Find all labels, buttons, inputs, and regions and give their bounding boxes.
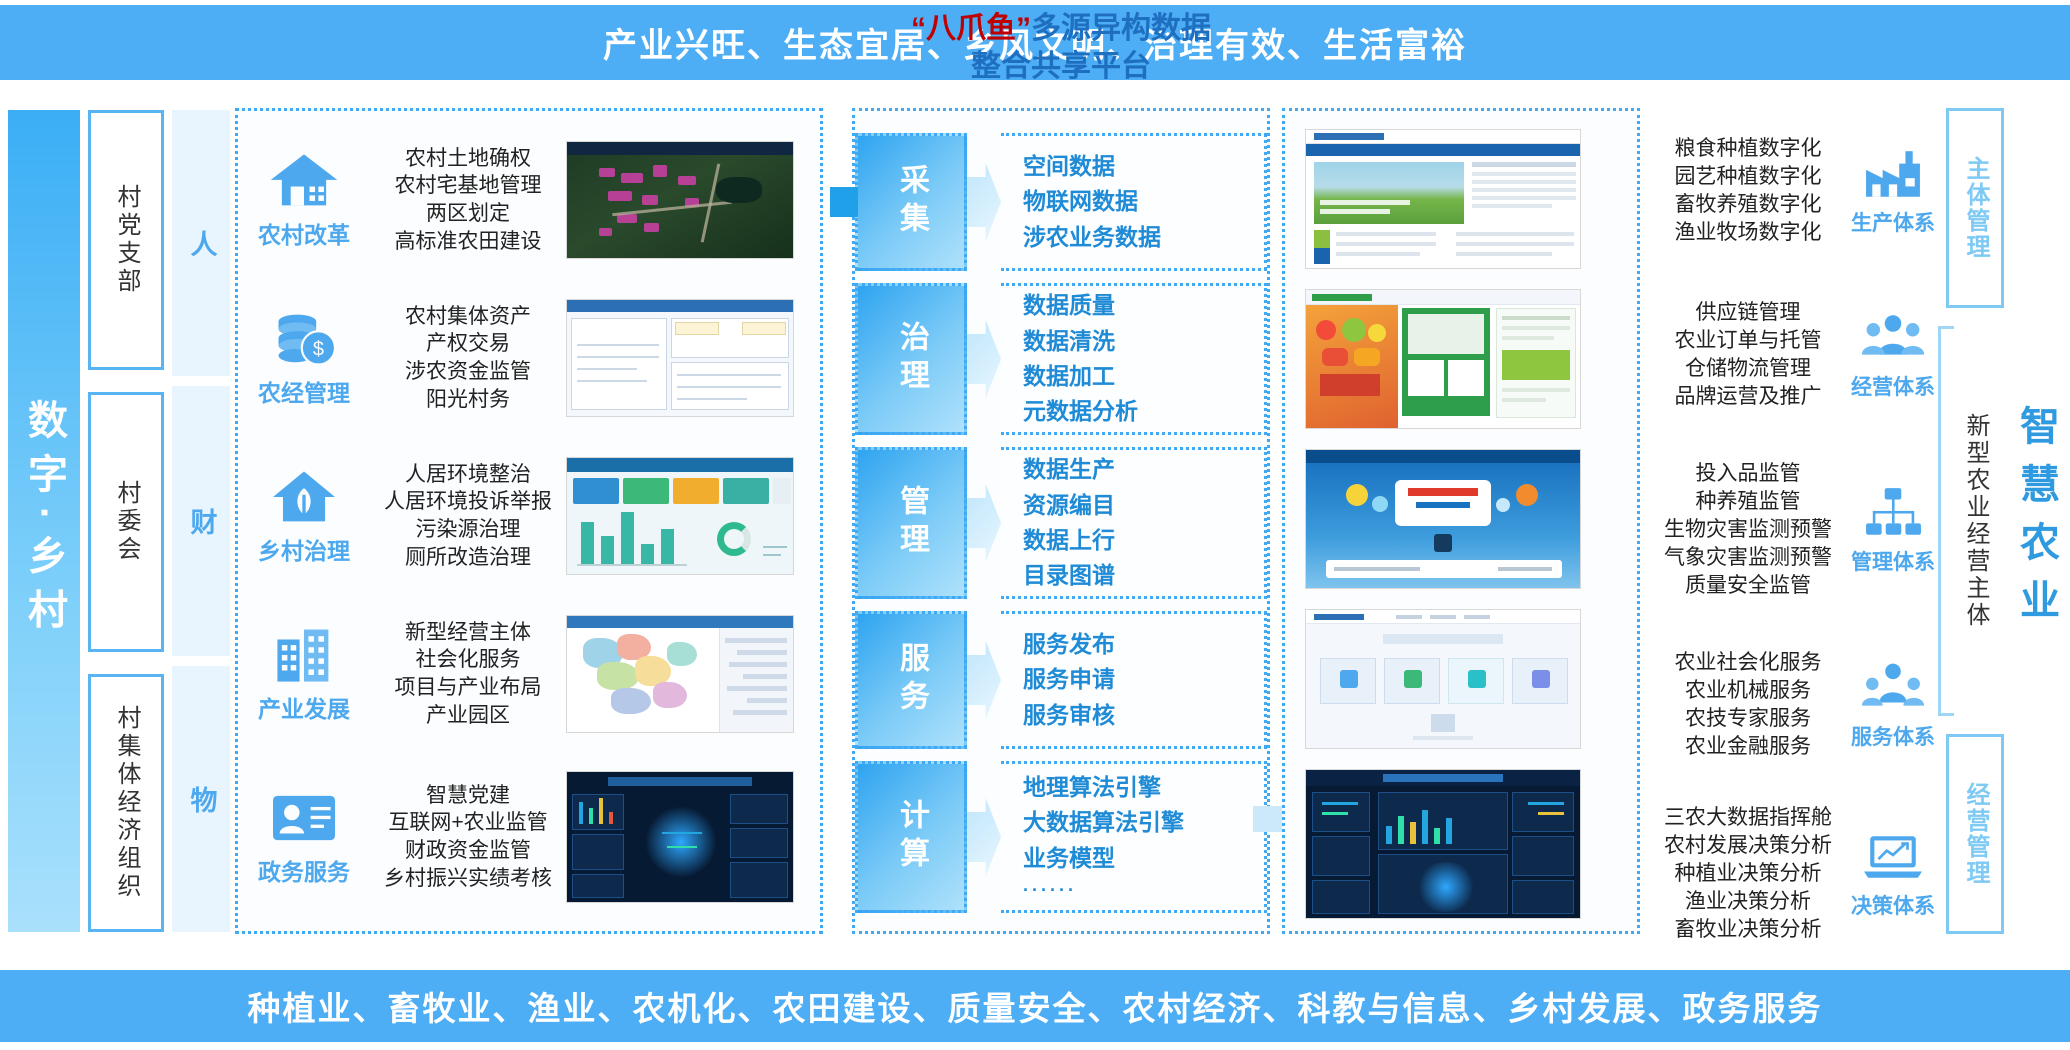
stage-label: 采集 — [896, 164, 926, 240]
stage-item: 元数据分析 — [1023, 395, 1138, 428]
module-item: 人居环境整治 — [370, 461, 566, 489]
system-item: 农村发展决策分析 — [1650, 832, 1846, 860]
system-row-decision[interactable]: 三农大数据指挥舱 农村发展决策分析 种植业决策分析 渔业决策分析 畜牧业决策分析… — [1650, 794, 1940, 954]
org-box-label: 村党支部 — [114, 184, 138, 296]
module-item: 农村土地确权 — [370, 145, 566, 173]
module-items: 农村集体资产 产权交易 涉农资金监管 阳光村务 — [370, 303, 566, 414]
stage-item: 业务模型 — [1023, 842, 1115, 875]
system-item: 种养殖监管 — [1650, 488, 1846, 516]
category-column: 人 财 物 — [172, 110, 230, 932]
module-icon-wrap: 乡村治理 — [238, 466, 370, 566]
system-icon-wrap: 经营体系 — [1846, 309, 1940, 401]
stage-label: 服务 — [896, 642, 926, 718]
org-box-village-party-branch[interactable]: 村党支部 — [88, 110, 164, 370]
organization-column: 村党支部 村委会 村集体经济组织 — [88, 110, 164, 932]
service-people-icon — [1858, 659, 1928, 717]
module-items: 新型经营主体 社会化服务 项目与产业布局 产业园区 — [370, 619, 566, 730]
stage-item: 服务审核 — [1023, 699, 1115, 732]
module-icon-wrap: 产业发展 — [238, 624, 370, 724]
stage-item: 大数据算法引擎 — [1023, 806, 1184, 839]
system-item: 畜牧养殖数字化 — [1650, 191, 1846, 219]
module-label: 政务服务 — [258, 853, 350, 887]
category-label: 财 — [188, 508, 215, 535]
stage-row-govern[interactable]: 治理 数据质量 数据清洗 数据加工 元数据分析 — [855, 283, 1267, 435]
module-row-rural-governance[interactable]: 乡村治理 人居环境整治 人居环境投诉举报 污染源治理 厕所改造治理 — [238, 441, 820, 591]
stage-badge-manage[interactable]: 管理 — [855, 447, 967, 599]
system-item: 三农大数据指挥舱 — [1650, 804, 1846, 832]
module-item: 产业园区 — [370, 702, 566, 730]
system-item: 农业订单与托管 — [1650, 327, 1846, 355]
left-title-text: 数字·乡村 — [24, 399, 64, 642]
bottom-banner-text: 种植业、畜牧业、渔业、农机化、农田建设、质量安全、农村经济、科教与信息、乡村发展… — [248, 982, 1823, 1030]
system-icon-wrap: 决策体系 — [1846, 828, 1940, 920]
system-row-service[interactable]: 农业社会化服务 农业机械服务 农技专家服务 农业金融服务 服务体系 — [1650, 630, 1940, 780]
stage-row-manage[interactable]: 管理 数据生产 资源编目 数据上行 目录图谱 — [855, 447, 1267, 599]
stage-items-govern: 数据质量 数据清洗 数据加工 元数据分析 — [1001, 283, 1267, 435]
factory-icon — [1858, 145, 1928, 203]
produce-trading-platform-screenshot[interactable] — [1305, 289, 1581, 429]
stage-item: 数据质量 — [1023, 289, 1115, 322]
system-item: 仓储物流管理 — [1650, 355, 1846, 383]
bracket-tick-top — [1938, 326, 1954, 329]
module-item: 农村宅基地管理 — [370, 172, 566, 200]
stage-badge-govern[interactable]: 治理 — [855, 283, 967, 435]
governance-dashboard-screenshot[interactable] — [566, 457, 794, 575]
system-label: 经营体系 — [1851, 371, 1935, 401]
module-items: 农村土地确权 农村宅基地管理 两区划定 高标准农田建设 — [370, 145, 566, 256]
module-icon-wrap: $ 农经管理 — [238, 308, 370, 408]
module-item: 涉农资金监管 — [370, 358, 566, 386]
right-label-text: 经营管理 — [1963, 782, 1987, 886]
right-title-smart-agriculture: 智慧农业 — [2008, 108, 2064, 934]
system-label: 决策体系 — [1851, 890, 1935, 920]
stage-item: 空间数据 — [1023, 150, 1115, 183]
home-leaf-icon — [268, 466, 340, 528]
module-items: 智慧党建 互联网+农业监管 财政资金监管 乡村振兴实绩考核 — [370, 782, 566, 893]
arrow-right-icon — [967, 320, 1001, 398]
category-label: 人 — [188, 230, 215, 257]
big-data-command-screenshot[interactable] — [1305, 769, 1581, 919]
module-row-industry-development[interactable]: 产业发展 新型经营主体 社会化服务 项目与产业布局 产业园区 — [238, 599, 820, 749]
org-box-village-committee[interactable]: 村委会 — [88, 392, 164, 652]
system-item: 生物灾害监测预警 — [1650, 516, 1846, 544]
module-label: 产业发展 — [258, 690, 350, 724]
module-item: 厕所改造治理 — [370, 544, 566, 572]
stage-item: 目录图谱 — [1023, 559, 1115, 592]
industry-distribution-map-screenshot[interactable] — [566, 615, 794, 733]
laptop-chart-icon — [1858, 828, 1928, 886]
system-item: 品牌运营及推广 — [1650, 383, 1846, 411]
diagram-stage: 数字·乡村 村党支部 村委会 村集体经济组织 人 财 物 — [0, 90, 2070, 960]
stage-row-service[interactable]: 服务 服务发布 服务申请 服务审核 — [855, 611, 1267, 749]
system-item: 农业机械服务 — [1650, 677, 1846, 705]
module-item: 污染源治理 — [370, 516, 566, 544]
category-people[interactable]: 人 — [172, 110, 230, 376]
system-label: 管理体系 — [1851, 546, 1935, 576]
left-title-band: 数字·乡村 — [8, 110, 80, 932]
system-item: 投入品监管 — [1650, 460, 1846, 488]
module-item: 高标准农田建设 — [370, 228, 566, 256]
platform-title-blue-1: 多源异构数据 — [1031, 12, 1211, 45]
system-items: 三农大数据指挥舱 农村发展决策分析 种植业决策分析 渔业决策分析 畜牧业决策分析 — [1650, 804, 1846, 945]
org-box-label: 村委会 — [114, 480, 138, 564]
module-item: 社会化服务 — [370, 646, 566, 674]
stage-row-compute[interactable]: 计算 地理算法引擎 大数据算法引擎 业务模型 ······ — [855, 761, 1267, 913]
arrow-right-icon — [967, 641, 1001, 719]
module-label: 乡村治理 — [258, 532, 350, 566]
module-item: 两区划定 — [370, 200, 566, 228]
system-item: 畜牧业决策分析 — [1650, 916, 1846, 944]
module-row-rural-reform[interactable]: 农村改革 农村土地确权 农村宅基地管理 两区划定 高标准农田建设 — [238, 125, 820, 275]
person-card-icon — [268, 787, 340, 849]
module-item: 互联网+农业监管 — [370, 809, 566, 837]
system-row-production[interactable]: 粮食种植数字化 园艺种植数字化 畜牧养殖数字化 渔业牧场数字化 生产体系 — [1650, 116, 1940, 266]
org-box-collective-economic-org[interactable]: 村集体经济组织 — [88, 674, 164, 932]
system-item: 供应链管理 — [1650, 299, 1846, 327]
module-label: 农村改革 — [258, 216, 350, 250]
org-box-label: 村集体经济组织 — [114, 705, 138, 901]
right-label-new-agri-operators: 新型农业经营主体 — [1946, 322, 2004, 720]
right-label-operation-management[interactable]: 经营管理 — [1946, 734, 2004, 934]
right-label-text: 主体管理 — [1963, 156, 1987, 260]
system-icon-wrap: 生产体系 — [1846, 145, 1940, 237]
system-row-operation[interactable]: 供应链管理 农业订单与托管 仓储物流管理 品牌运营及推广 经营体系 — [1650, 280, 1940, 430]
stage-item: 数据上行 — [1023, 524, 1115, 557]
system-item: 农业社会化服务 — [1650, 649, 1846, 677]
system-items: 粮食种植数字化 园艺种植数字化 畜牧养殖数字化 渔业牧场数字化 — [1650, 135, 1846, 248]
house-icon — [268, 150, 340, 212]
satellite-parcel-map-screenshot[interactable] — [566, 141, 794, 259]
category-assets[interactable]: 物 — [172, 666, 230, 932]
system-item: 气象灾害监测预警 — [1650, 544, 1846, 572]
bracket-line — [1938, 326, 1941, 716]
stage-label: 管理 — [896, 485, 926, 561]
stage-item: 数据加工 — [1023, 360, 1115, 393]
module-item: 智慧党建 — [370, 782, 566, 810]
module-item: 项目与产业布局 — [370, 674, 566, 702]
food-safety-campaign-screenshot[interactable] — [1305, 449, 1581, 589]
system-item: 质量安全监管 — [1650, 572, 1846, 600]
stage-label: 治理 — [896, 321, 926, 397]
system-item: 渔业决策分析 — [1650, 888, 1846, 916]
stage-item: 涉农业务数据 — [1023, 221, 1161, 254]
platform-title-red: “八爪鱼” — [911, 12, 1031, 45]
stage-item: 资源编目 — [1023, 489, 1115, 522]
system-items: 投入品监管 种养殖监管 生物灾害监测预警 气象灾害监测预警 质量安全监管 — [1650, 460, 1846, 601]
system-icon-wrap: 管理体系 — [1846, 484, 1940, 576]
module-row-rural-economy[interactable]: $ 农经管理 农村集体资产 产权交易 涉农资金监管 阳光村务 — [238, 283, 820, 433]
right-label-text: 新型农业经营主体 — [1963, 413, 1987, 629]
module-item: 产权交易 — [370, 330, 566, 358]
module-row-government-service[interactable]: 政务服务 智慧党建 互联网+农业监管 财政资金监管 乡村振兴实绩考核 — [238, 757, 820, 917]
org-chart-icon — [1858, 484, 1928, 542]
agri-products-portal-screenshot[interactable] — [1305, 129, 1581, 269]
system-icon-wrap: 服务体系 — [1846, 659, 1940, 751]
stage-item-ellipsis: ······ — [1023, 877, 1077, 903]
stage-item: 物联网数据 — [1023, 185, 1138, 218]
module-items: 人居环境整治 人居环境投诉举报 污染源治理 厕所改造治理 — [370, 461, 566, 572]
stage-items-manage: 数据生产 资源编目 数据上行 目录图谱 — [1001, 447, 1267, 599]
module-item: 新型经营主体 — [370, 619, 566, 647]
system-item: 种植业决策分析 — [1650, 860, 1846, 888]
category-label: 物 — [188, 786, 215, 813]
platform-title: “八爪鱼”多源异构数据 整合共享平台 — [852, 10, 1270, 85]
stage-item: 地理算法引擎 — [1023, 771, 1161, 804]
module-item: 乡村振兴实绩考核 — [370, 865, 566, 893]
system-label: 生产体系 — [1851, 207, 1935, 237]
arrow-right-icon — [967, 484, 1001, 562]
stage-item: 数据生产 — [1023, 453, 1115, 486]
system-item: 粮食种植数字化 — [1650, 135, 1846, 163]
module-item: 阳光村务 — [370, 386, 566, 414]
stage-connector-nub — [830, 187, 858, 217]
stage-item: 服务发布 — [1023, 628, 1115, 661]
system-item: 渔业牧场数字化 — [1650, 219, 1846, 247]
stage-items-collect: 空间数据 物联网数据 涉农业务数据 — [1001, 133, 1267, 271]
stage-item: 数据清洗 — [1023, 325, 1115, 358]
system-item: 园艺种植数字化 — [1650, 163, 1846, 191]
system-item: 农业金融服务 — [1650, 733, 1846, 761]
arrow-right-icon — [967, 798, 1001, 876]
dark-command-center-screenshot[interactable] — [566, 771, 794, 903]
people-group-icon — [1858, 309, 1928, 367]
module-item: 农村集体资产 — [370, 303, 566, 331]
stage-items-compute: 地理算法引擎 大数据算法引擎 业务模型 ······ — [1001, 761, 1267, 913]
stage-item: 服务申请 — [1023, 663, 1115, 696]
stage-items-service: 服务发布 服务申请 服务审核 — [1001, 611, 1267, 749]
village-modules-panel: 农村改革 农村土地确权 农村宅基地管理 两区划定 高标准农田建设 — [235, 108, 823, 934]
module-item: 人居环境投诉举报 — [370, 488, 566, 516]
stage-row-collect[interactable]: 采集 空间数据 物联网数据 涉农业务数据 — [855, 133, 1267, 271]
module-item: 财政资金监管 — [370, 837, 566, 865]
platform-output-connector — [1253, 806, 1285, 832]
stage-badge-compute[interactable]: 计算 — [855, 761, 967, 913]
stage-badge-collect[interactable]: 采集 — [855, 133, 967, 271]
bottom-banner: 种植业、畜牧业、渔业、农机化、农田建设、质量安全、农村经济、科教与信息、乡村发展… — [0, 970, 2070, 1042]
buildings-icon — [268, 624, 340, 686]
coins-dollar-icon: $ — [268, 308, 340, 370]
svg-text:$: $ — [313, 339, 324, 361]
module-icon-wrap: 政务服务 — [238, 787, 370, 887]
service-console-screenshot[interactable] — [1305, 609, 1581, 749]
system-items: 农业社会化服务 农业机械服务 农技专家服务 农业金融服务 — [1650, 649, 1846, 762]
platform-title-blue-2: 整合共享平台 — [971, 50, 1151, 83]
stage-label: 计算 — [896, 799, 926, 875]
platform-applications-panel — [1282, 108, 1640, 934]
right-label-subject-management[interactable]: 主体管理 — [1946, 108, 2004, 308]
system-item: 农技专家服务 — [1650, 705, 1846, 733]
stage-badge-service[interactable]: 服务 — [855, 611, 967, 749]
system-label: 服务体系 — [1851, 721, 1935, 751]
system-row-management[interactable]: 投入品监管 种养殖监管 生物灾害监测预警 气象灾害监测预警 质量安全监管 — [1650, 444, 1940, 616]
module-label: 农经管理 — [258, 374, 350, 408]
asset-form-table-screenshot[interactable] — [566, 299, 794, 417]
systems-column: 粮食种植数字化 园艺种植数字化 畜牧养殖数字化 渔业牧场数字化 生产体系 供应链… — [1650, 108, 1940, 934]
right-title-text: 智慧农业 — [2016, 405, 2056, 637]
module-icon-wrap: 农村改革 — [238, 150, 370, 250]
system-items: 供应链管理 农业订单与托管 仓储物流管理 品牌运营及推广 — [1650, 299, 1846, 412]
category-finance[interactable]: 财 — [172, 386, 230, 656]
bracket-tick-bottom — [1938, 713, 1954, 716]
arrow-right-icon — [967, 163, 1001, 241]
platform-panel: 采集 空间数据 物联网数据 涉农业务数据 治理 数据质量 数据清洗 数据加工 元… — [852, 108, 1270, 934]
